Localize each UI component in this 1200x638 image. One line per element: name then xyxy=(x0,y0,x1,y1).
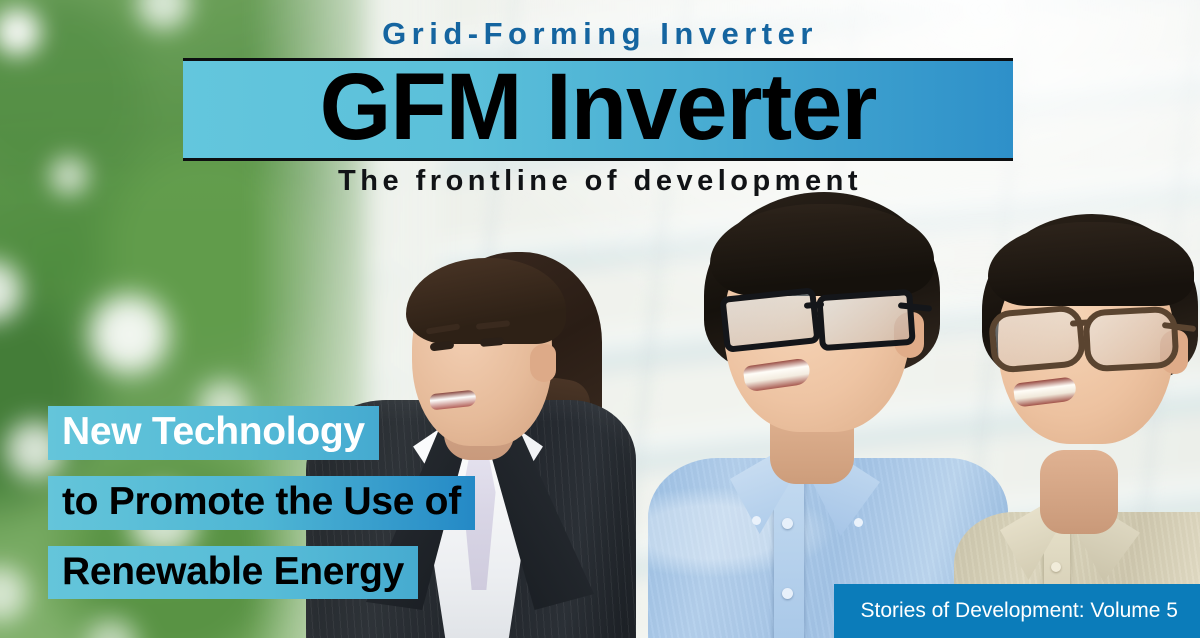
person-center-shirt-button xyxy=(782,518,793,529)
headline-line-1: New Technology xyxy=(48,406,379,460)
headline-block: New Technology to Promote the Use of Ren… xyxy=(48,406,475,599)
person-right xyxy=(948,212,1200,638)
headline-row: New Technology xyxy=(48,406,475,460)
person-center-lens-right xyxy=(816,289,916,352)
page-title: GFM Inverter xyxy=(320,60,877,155)
headline-row: to Promote the Use of xyxy=(48,476,475,530)
headline-line-2: to Promote the Use of xyxy=(48,476,475,530)
person-right-glasses xyxy=(990,308,1190,360)
person-right-hair-fringe xyxy=(988,222,1194,306)
person-center-collar-button xyxy=(854,518,863,527)
volume-badge: Stories of Development: Volume 5 xyxy=(834,584,1200,638)
headline-row: Renewable Energy xyxy=(48,546,475,600)
headline-line-3: Renewable Energy xyxy=(48,546,418,600)
person-right-shirt-button xyxy=(1051,562,1061,572)
person-right-neck xyxy=(1040,450,1118,534)
person-left-ear xyxy=(530,344,556,382)
person-right-lens-right xyxy=(1082,306,1179,373)
person-center-shirt-button xyxy=(782,588,793,599)
hero-banner: Grid-Forming Inverter GFM Inverter The f… xyxy=(0,0,1200,638)
title-band: GFM Inverter xyxy=(183,58,1013,161)
person-right-lens-left xyxy=(987,304,1086,374)
subtitle-text: The frontline of development xyxy=(0,167,1200,196)
person-center-glasses xyxy=(722,292,922,338)
person-center-lens-left xyxy=(719,287,820,353)
person-center-collar-button xyxy=(752,516,761,525)
eyebrow-text: Grid-Forming Inverter xyxy=(0,18,1200,49)
